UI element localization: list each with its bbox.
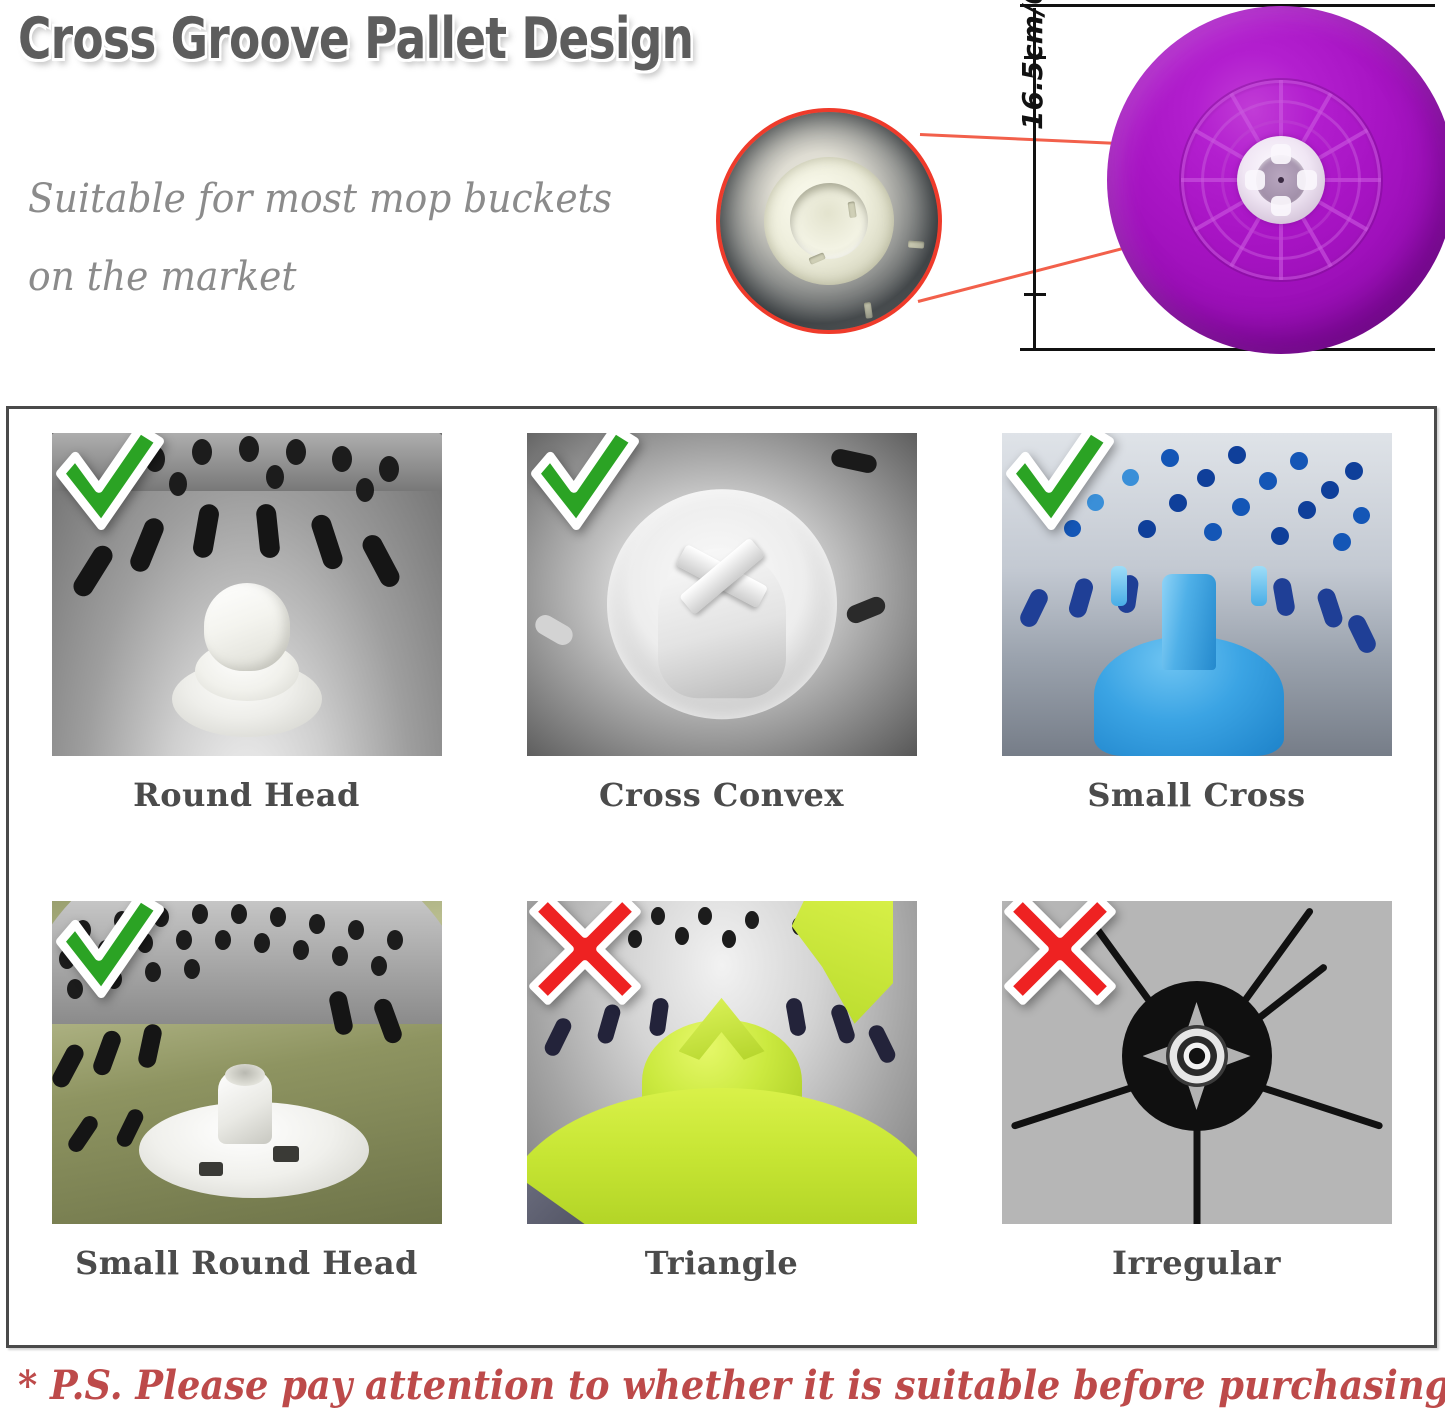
page-title: Cross Groove Pallet Design bbox=[18, 6, 693, 72]
disc-hub bbox=[1237, 136, 1325, 224]
product-disc-photo bbox=[1022, 4, 1442, 354]
compat-label: Triangle bbox=[645, 1244, 798, 1282]
disc-hub-center-dot bbox=[1278, 177, 1284, 183]
footer-note: * P.S. Please pay attention to whether i… bbox=[18, 1362, 1324, 1409]
compat-label: Irregular bbox=[1112, 1244, 1281, 1282]
photo-small-round-head bbox=[52, 901, 442, 1224]
compatibility-grid: Round Head bbox=[9, 409, 1434, 1345]
photo-triangle bbox=[527, 901, 917, 1224]
round-head-nub bbox=[172, 577, 322, 737]
compat-label: Small Cross bbox=[1087, 776, 1305, 814]
photo-cross-convex bbox=[527, 433, 917, 756]
header-section: Cross Groove Pallet Design Suitable for … bbox=[0, 0, 1445, 372]
infographic-page: Cross Groove Pallet Design Suitable for … bbox=[0, 0, 1445, 1422]
purple-pallet-disc bbox=[1107, 6, 1445, 354]
cross-convex-nub bbox=[607, 489, 837, 719]
compat-label: Cross Convex bbox=[599, 776, 844, 814]
compat-item-round-head[interactable]: Round Head bbox=[9, 409, 484, 877]
hub-detail-magnifier bbox=[716, 108, 942, 334]
compat-item-triangle[interactable]: Triangle bbox=[484, 877, 959, 1345]
small-cross-nub bbox=[1089, 556, 1289, 756]
compat-item-small-cross[interactable]: Small Cross bbox=[959, 409, 1434, 877]
compat-label: Round Head bbox=[133, 776, 360, 814]
detail-rim-shadow bbox=[720, 112, 938, 330]
compat-item-cross-convex[interactable]: Cross Convex bbox=[484, 409, 959, 877]
photo-small-cross bbox=[1002, 433, 1392, 756]
subtitle-text: Suitable for most mop buckets on the mar… bbox=[28, 160, 648, 316]
photo-irregular bbox=[1002, 901, 1392, 1224]
compat-label: Small Round Head bbox=[75, 1244, 418, 1282]
irregular-fan-disc bbox=[1002, 901, 1392, 1224]
compatibility-panel: Round Head bbox=[6, 406, 1437, 1348]
compat-item-irregular[interactable]: Irregular bbox=[959, 877, 1434, 1345]
compat-item-small-round-head[interactable]: Small Round Head bbox=[9, 877, 484, 1345]
small-round-head-nub bbox=[139, 1048, 369, 1198]
photo-round-head bbox=[52, 433, 442, 756]
